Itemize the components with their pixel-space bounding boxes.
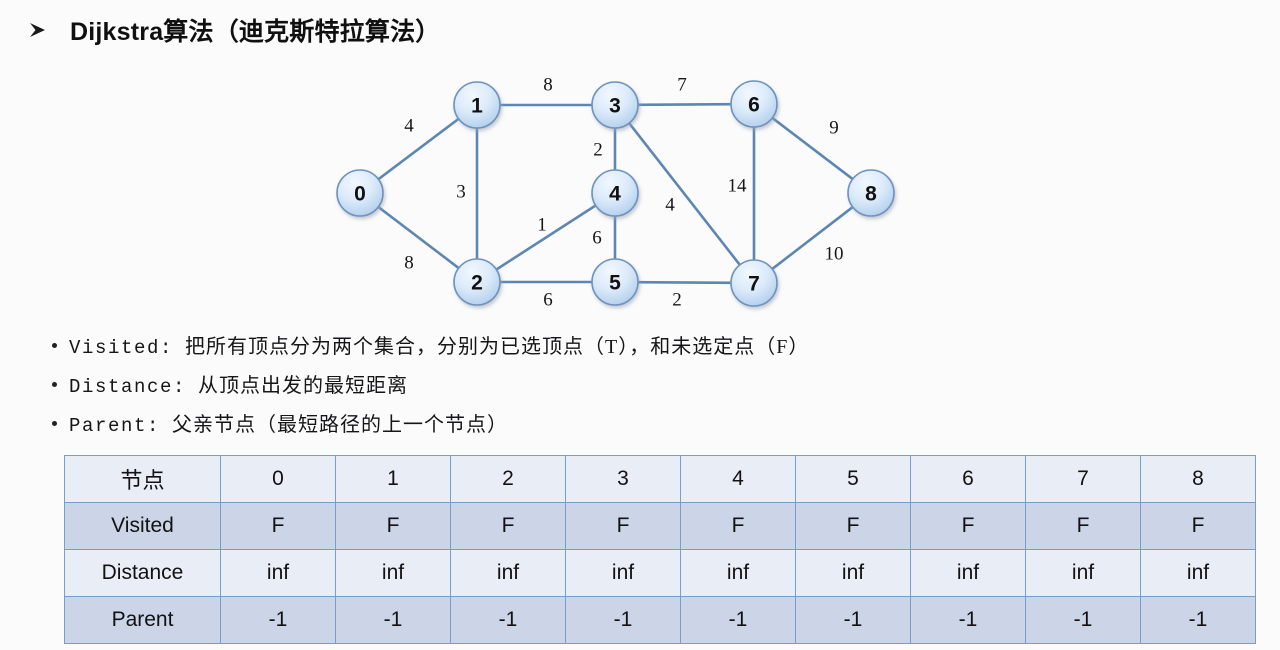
definition-list: Visited:把所有顶点分为两个集合，分别为已选顶点（T），和未选定点（F）D…: [52, 330, 1172, 447]
table-cell: inf: [681, 550, 796, 597]
graph-edge-3-6: [636, 104, 733, 105]
table-cell: 7: [1026, 456, 1141, 503]
table-cell: -1: [796, 597, 911, 644]
definition-body: 从顶点出发的最短距离: [198, 369, 408, 398]
edge-weight-1-3: 8: [543, 75, 553, 96]
table-cell: F: [566, 503, 681, 550]
table-cell: -1: [566, 597, 681, 644]
table-cell: F: [681, 503, 796, 550]
table-cell: inf: [1141, 550, 1256, 597]
graph-node-2[interactable]: 2: [454, 259, 500, 305]
table-row: 节点012345678: [65, 456, 1256, 503]
edge-weight-0-2: 8: [404, 253, 414, 274]
edge-weight-3-7: 4: [665, 195, 675, 216]
graph-node-label-0: 0: [354, 183, 366, 206]
edge-weight-1-2: 3: [456, 182, 466, 203]
page-title: Dijkstra算法（迪克斯特拉算法）: [26, 12, 441, 48]
bullet-dot-icon: [52, 421, 57, 426]
arrow-bullet-icon: [26, 19, 48, 41]
table-cell: -1: [911, 597, 1026, 644]
definition-body: 把所有顶点分为两个集合，分别为已选顶点（T），和未选定点（F）: [185, 330, 809, 359]
definition-item: Visited:把所有顶点分为两个集合，分别为已选顶点（T），和未选定点（F）: [52, 330, 1172, 369]
edge-weight-2-4: 1: [537, 215, 547, 236]
edge-weight-6-7: 14: [728, 176, 748, 197]
algorithm-state-table: 节点012345678VisitedFFFFFFFFFDistanceinfin…: [64, 455, 1256, 644]
definition-item: Parent:父亲节点（最短路径的上一个节点）: [52, 408, 1172, 447]
bullet-dot-icon: [52, 382, 57, 387]
edge-weight-6-8: 9: [829, 118, 839, 139]
graph-node-1[interactable]: 1: [454, 82, 500, 128]
graph-diagram: 012345678 4838724166214910: [320, 58, 930, 326]
graph-svg: 012345678 4838724166214910: [320, 58, 930, 326]
table-cell: 4: [681, 456, 796, 503]
table-row: Distanceinfinfinfinfinfinfinfinfinf: [65, 550, 1256, 597]
graph-edge-0-1: [377, 118, 460, 181]
table-cell: 0: [221, 456, 336, 503]
graph-edge-5-7: [636, 282, 733, 283]
table-cell: 5: [796, 456, 911, 503]
page-title-text: Dijkstra算法（迪克斯特拉算法）: [70, 12, 441, 48]
definition-item: Distance:从顶点出发的最短距离: [52, 369, 1172, 408]
definition-term: Parent:: [69, 415, 160, 437]
table-cell: F: [336, 503, 451, 550]
table-cell: 2: [451, 456, 566, 503]
edge-weight-0-1: 4: [404, 116, 414, 137]
graph-node-label-4: 4: [609, 183, 621, 206]
table-cell: 3: [566, 456, 681, 503]
bullet-dot-icon: [52, 343, 57, 348]
table-cell: -1: [1141, 597, 1256, 644]
graph-node-label-2: 2: [471, 272, 483, 295]
graph-node-6[interactable]: 6: [731, 81, 777, 127]
definition-body: 父亲节点（最短路径的上一个节点）: [172, 408, 508, 437]
table-cell: inf: [1026, 550, 1141, 597]
table-cell: -1: [221, 597, 336, 644]
edge-weight-3-6: 7: [677, 75, 687, 96]
table-cell: F: [911, 503, 1026, 550]
definition-term: Distance:: [69, 376, 186, 398]
graph-node-label-6: 6: [748, 94, 760, 117]
graph-node-label-5: 5: [609, 272, 621, 295]
graph-node-7[interactable]: 7: [731, 260, 777, 306]
graph-node-4[interactable]: 4: [592, 170, 638, 216]
table-cell: F: [1026, 503, 1141, 550]
table-cell: 8: [1141, 456, 1256, 503]
graph-node-label-1: 1: [471, 95, 483, 118]
table-row: Parent-1-1-1-1-1-1-1-1-1: [65, 597, 1256, 644]
graph-node-3[interactable]: 3: [592, 82, 638, 128]
table-cell: inf: [221, 550, 336, 597]
table-cell: 6: [911, 456, 1026, 503]
graph-node-5[interactable]: 5: [592, 259, 638, 305]
graph-node-0[interactable]: 0: [337, 170, 383, 216]
graph-node-label-7: 7: [748, 273, 760, 296]
table-cell: -1: [681, 597, 796, 644]
graph-node-layer: 012345678: [337, 81, 894, 306]
table-cell: inf: [451, 550, 566, 597]
definition-term: Visited:: [69, 337, 173, 359]
table-cell: -1: [451, 597, 566, 644]
graph-node-label-3: 3: [609, 95, 621, 118]
table-row-header: Parent: [65, 597, 221, 644]
table-cell: F: [1141, 503, 1256, 550]
table-cell: F: [221, 503, 336, 550]
graph-edge-0-2: [377, 206, 461, 270]
table-cell: F: [451, 503, 566, 550]
graph-edge-6-8: [771, 117, 855, 181]
table-cell: 1: [336, 456, 451, 503]
table-cell: inf: [566, 550, 681, 597]
table-row-header: Visited: [65, 503, 221, 550]
table-cell: -1: [1026, 597, 1141, 644]
table-cell: inf: [336, 550, 451, 597]
edge-weight-4-5: 6: [592, 228, 602, 249]
edge-weight-5-7: 2: [672, 290, 682, 311]
table-row: VisitedFFFFFFFFF: [65, 503, 1256, 550]
edge-weight-3-4: 2: [593, 140, 603, 161]
graph-node-8[interactable]: 8: [848, 170, 894, 216]
table-row-header: 节点: [65, 456, 221, 503]
table-cell: F: [796, 503, 911, 550]
graph-edge-3-7: [628, 122, 741, 267]
edge-weight-2-5: 6: [543, 290, 553, 311]
table-cell: inf: [911, 550, 1026, 597]
table-cell: -1: [336, 597, 451, 644]
table-row-header: Distance: [65, 550, 221, 597]
table-cell: inf: [796, 550, 911, 597]
graph-node-label-8: 8: [865, 183, 877, 206]
edge-weight-7-8: 10: [825, 244, 844, 265]
